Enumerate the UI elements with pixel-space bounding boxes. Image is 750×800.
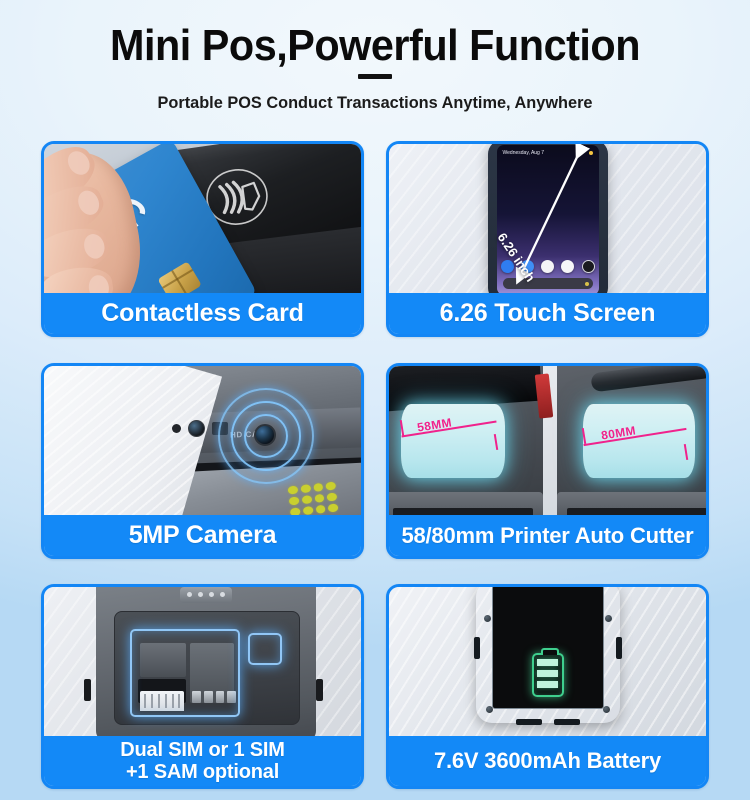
- printer-unit-58mm: 58MM: [389, 366, 543, 515]
- status-bar-date: Wednesday, Aug 7: [503, 150, 545, 156]
- play-store-icon[interactable]: [541, 260, 554, 273]
- feature-caption-sim-slots: Dual SIM or 1 SIM +1 SAM optional: [44, 736, 361, 786]
- feature-caption-camera: 5MP Camera: [44, 515, 361, 556]
- feature-grid: NFC Contactless Card Wedne: [41, 141, 709, 791]
- feature-card-printer[interactable]: 58MM 80MM 58/80mm Printer Auto: [386, 363, 709, 559]
- feature-card-sim-slots[interactable]: Dual SIM or 1 SIM +1 SAM optional: [41, 584, 364, 789]
- feature-image-touch-screen: Wednesday, Aug 7: [389, 144, 706, 293]
- keypad-dots: [288, 482, 339, 515]
- feature-image-contactless-card: NFC: [44, 144, 361, 293]
- contact-pad: [180, 587, 232, 603]
- feature-card-touch-screen[interactable]: Wednesday, Aug 7: [386, 141, 709, 337]
- page-subtitle: Portable POS Conduct Transactions Anytim…: [15, 93, 735, 113]
- feature-card-camera[interactable]: HD CAM 5MP Camera: [41, 363, 364, 559]
- weather-icon: [589, 151, 593, 155]
- feature-card-battery[interactable]: 7.6V 3600mAh Battery: [386, 584, 709, 789]
- feature-image-battery: [389, 587, 706, 736]
- sam-highlight-box: [248, 633, 282, 665]
- battery-icon: [532, 653, 564, 697]
- feature-caption-touch-screen: 6.26 Touch Screen: [389, 293, 706, 334]
- product-feature-page: Mini Pos,Powerful Function Portable POS …: [0, 0, 750, 800]
- feature-card-contactless-card[interactable]: NFC Contactless Card: [41, 141, 364, 337]
- feature-caption-contactless-card: Contactless Card: [44, 293, 361, 334]
- title-divider: [358, 74, 392, 79]
- sim-highlight-box: [130, 629, 240, 717]
- search-bar[interactable]: [503, 278, 593, 289]
- device-screen: Wednesday, Aug 7: [497, 145, 599, 293]
- feature-caption-battery: 7.6V 3600mAh Battery: [389, 736, 706, 786]
- feature-image-sim-slots: [44, 587, 361, 736]
- feature-image-camera: HD CAM: [44, 366, 361, 515]
- sim-chip-icon: [157, 261, 201, 293]
- status-bar-icons: [589, 151, 593, 155]
- feature-image-printer: 58MM 80MM: [389, 366, 706, 515]
- chrome-icon[interactable]: [561, 260, 574, 273]
- pos-device: Wednesday, Aug 7: [488, 144, 608, 293]
- status-bar: Wednesday, Aug 7: [503, 148, 593, 157]
- sensor-icon: [172, 424, 181, 433]
- printer-unit-80mm: 80MM: [557, 366, 706, 515]
- secondary-lens: [188, 420, 205, 437]
- feature-caption-printer: 58/80mm Printer Auto Cutter: [389, 515, 706, 556]
- focus-ring-outer: [218, 388, 314, 484]
- page-header: Mini Pos,Powerful Function Portable POS …: [0, 0, 750, 138]
- camera-icon[interactable]: [582, 260, 595, 273]
- page-title: Mini Pos,Powerful Function: [23, 21, 728, 71]
- paper-roll-58mm: [401, 404, 505, 478]
- sim-caption-line-2: +1 SAM optional: [126, 761, 279, 783]
- sim-caption-line-1: Dual SIM or 1 SIM: [120, 739, 284, 761]
